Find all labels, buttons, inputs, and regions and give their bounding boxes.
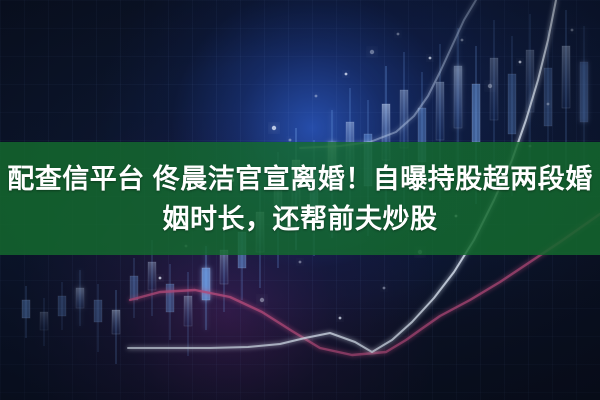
headline-line-1: 配查信平台 佟晨洁官宣离婚！自曝持股超两段婚	[7, 159, 593, 199]
headline-text: 配查信平台 佟晨洁官宣离婚！自曝持股超两段婚 姻时长，还帮前夫炒股	[0, 142, 600, 255]
headline-line-2: 姻时长，还帮前夫炒股	[163, 199, 438, 239]
news-banner-image: 配查信平台 佟晨洁官宣离婚！自曝持股超两段婚 姻时长，还帮前夫炒股	[0, 0, 600, 400]
